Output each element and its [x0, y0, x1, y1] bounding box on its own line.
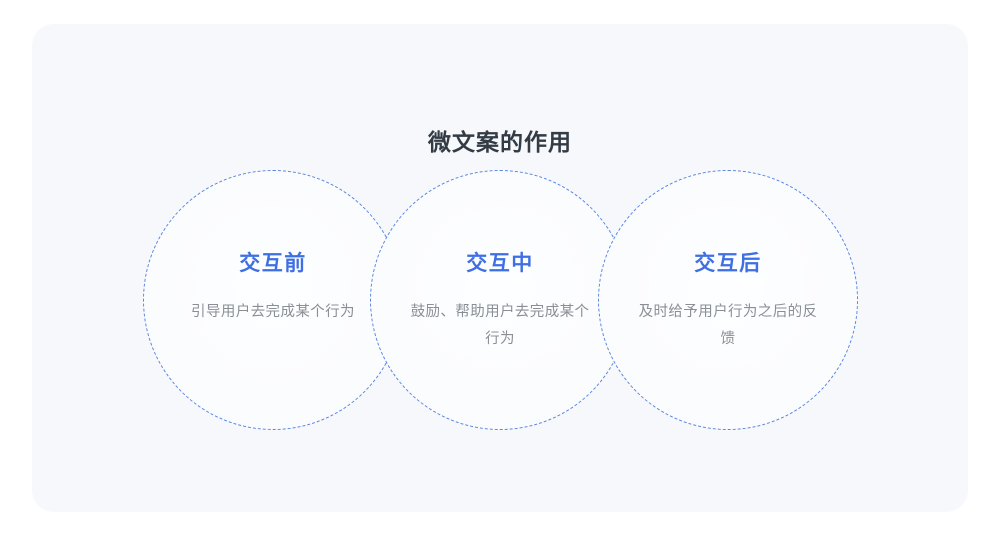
circle-outline-after-interaction	[598, 170, 858, 430]
circle-outline-during-interaction	[370, 170, 630, 430]
page-root: 微文案的作用 交互前 引导用户去完成某个行为 交互中 鼓励、帮助用户去完成某个行…	[0, 0, 1000, 536]
page-title: 微文案的作用	[32, 131, 968, 154]
content-card: 微文案的作用 交互前 引导用户去完成某个行为 交互中 鼓励、帮助用户去完成某个行…	[32, 24, 968, 512]
circle-outline-before-interaction	[143, 170, 403, 430]
